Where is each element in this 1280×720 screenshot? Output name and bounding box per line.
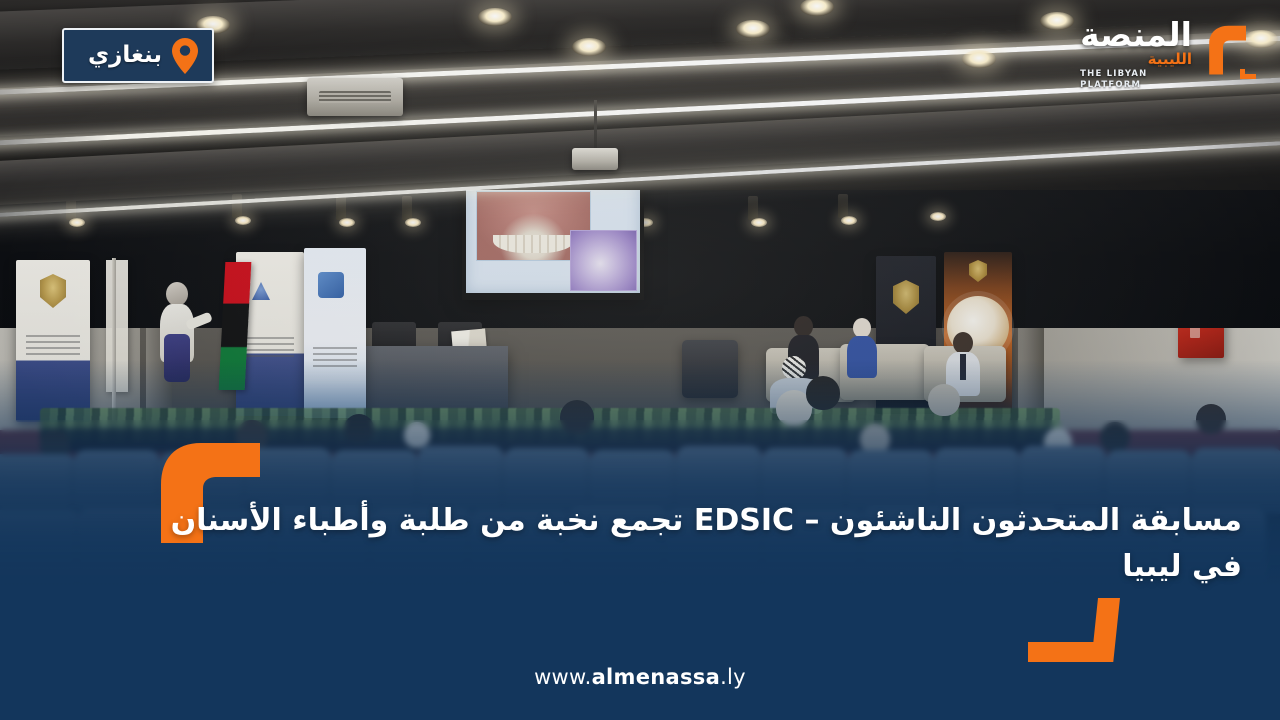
roll-up-banner-sponsor — [304, 248, 366, 418]
navy-solid-footer-band — [0, 590, 1280, 720]
audience-seat — [0, 510, 80, 586]
armchair — [682, 340, 738, 398]
news-card: بنغازي المنصة الليبية THE LIBYAN PLATFOR… — [0, 0, 1280, 720]
brand-name-en-line1: THE LIBYAN — [1080, 69, 1192, 80]
headline-title: مسابقة المتحدثون الناشئون – EDSIC تجمع ن… — [140, 498, 1242, 589]
ceiling-downlight — [1040, 12, 1074, 30]
brand-logo: المنصة الليبية THE LIBYAN PLATFORM — [1080, 18, 1260, 90]
brand-subname-arabic: الليبية — [1080, 52, 1192, 67]
projected-slide — [466, 177, 640, 293]
site-url[interactable]: www.almenassa.ly — [0, 665, 1280, 689]
air-conditioning-vent — [307, 78, 403, 116]
slide-scan-image — [570, 230, 636, 290]
spot-stem — [232, 194, 242, 218]
map-pin-icon — [172, 38, 198, 74]
ceiling-spotlight — [751, 218, 767, 227]
audience-head — [560, 400, 594, 434]
audience-seat — [0, 454, 76, 518]
panel-guest — [846, 318, 878, 376]
brand-name-en-line2: PLATFORM — [1080, 80, 1192, 91]
ceiling-spotlight — [339, 218, 355, 227]
ceiling-downlight — [736, 20, 770, 38]
audience-head — [1196, 404, 1226, 434]
almenassa-logo-mark — [1196, 25, 1260, 83]
spot-stem — [402, 196, 412, 220]
location-label: بنغازي — [88, 44, 162, 67]
ceiling-downlight — [572, 38, 606, 56]
projection-screen — [462, 172, 644, 300]
spot-stem — [838, 194, 848, 218]
ceiling-spotlight — [235, 216, 251, 225]
white-flag — [106, 260, 128, 392]
audience-head — [806, 376, 840, 410]
spot-stem — [336, 196, 346, 220]
ceiling-projector — [572, 148, 618, 170]
ceiling-spotlight — [841, 216, 857, 225]
location-badge: بنغازي — [62, 28, 214, 83]
audience-head — [1100, 422, 1130, 452]
audience-head — [928, 384, 960, 416]
presenter-standing — [156, 282, 202, 414]
brand-name-arabic: المنصة — [1080, 18, 1192, 51]
url-suffix: .ly — [720, 665, 746, 689]
audience-head — [344, 414, 374, 444]
ceiling-downlight — [962, 50, 996, 68]
ceiling-downlight — [478, 8, 512, 26]
ceiling-spotlight — [69, 218, 85, 227]
ceiling-spotlight — [930, 212, 946, 221]
url-brand: almenassa — [592, 665, 721, 689]
ceiling-spotlight — [405, 218, 421, 227]
audience-head — [404, 422, 430, 448]
spot-stem — [748, 196, 758, 220]
projector-mount-rod — [594, 100, 597, 152]
url-prefix: www. — [534, 665, 591, 689]
